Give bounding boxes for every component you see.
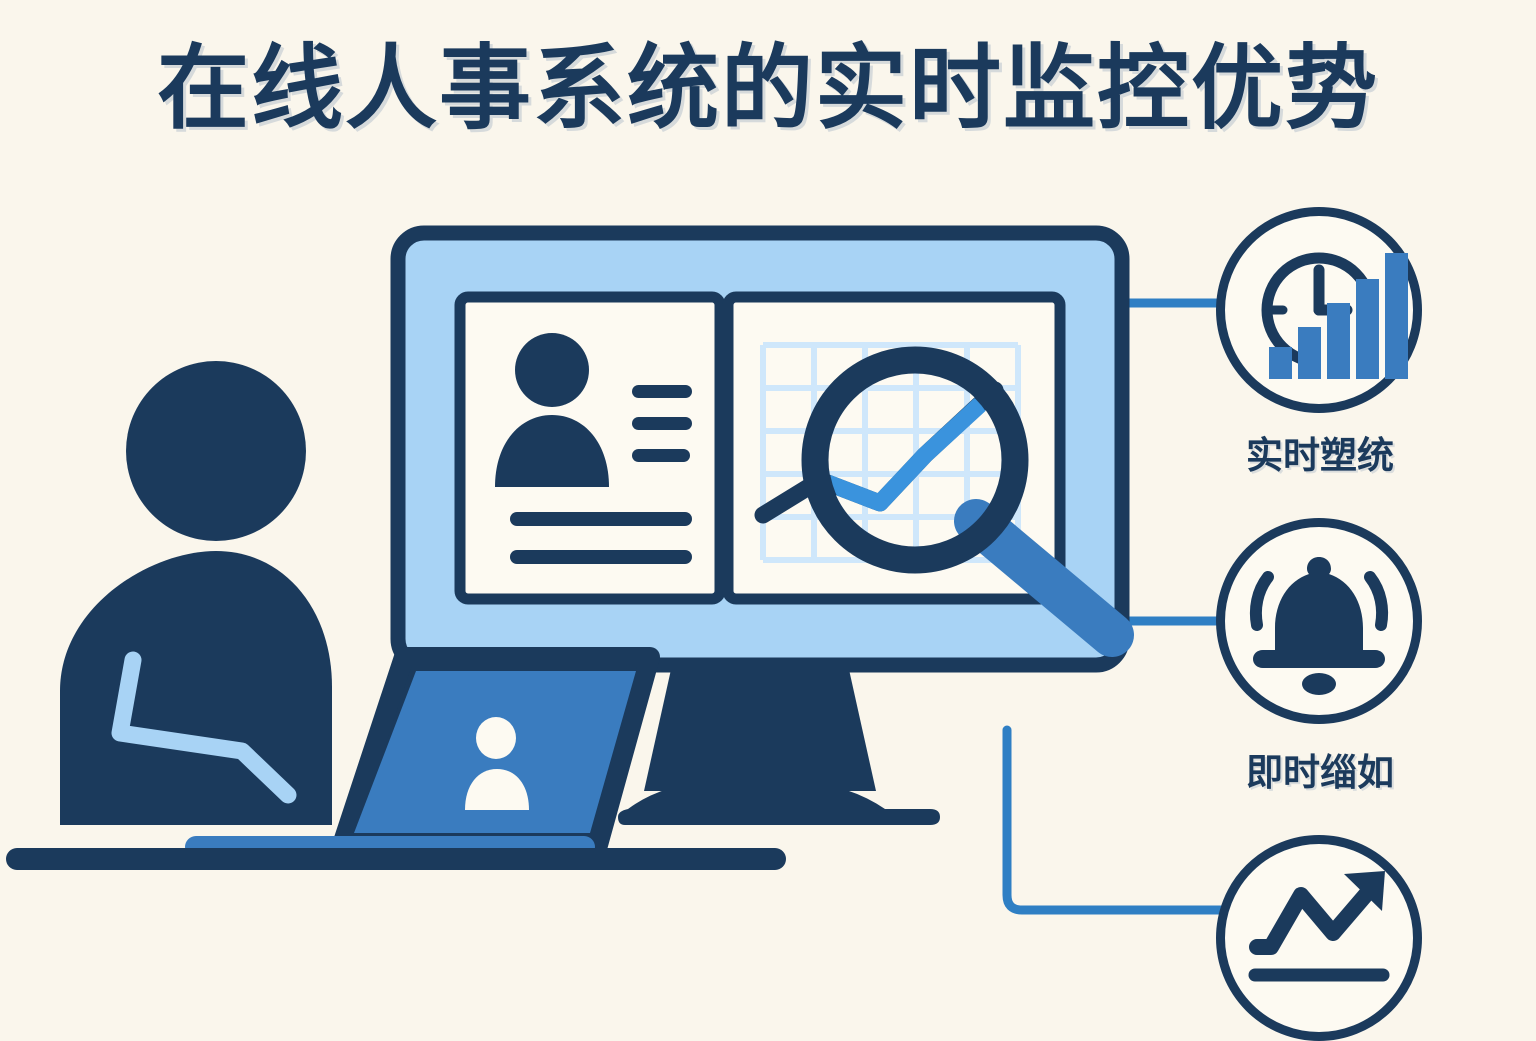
ringing-bell-icon [1225, 527, 1413, 715]
user-avatar-head-icon [515, 333, 589, 407]
feature-badge-instant-notification[interactable] [1216, 518, 1422, 724]
person-body [60, 551, 332, 825]
feature-badge-realtime-stats[interactable] [1216, 207, 1422, 413]
bar-1 [1269, 347, 1292, 379]
bar-2 [1298, 327, 1321, 379]
trend-arrow-line [1257, 884, 1375, 947]
bar-4 [1356, 279, 1379, 379]
person-head [126, 361, 306, 541]
feature-label-realtime-stats: 实时塑统 [1170, 425, 1470, 479]
upward-trend-arrow-icon [1225, 844, 1413, 1032]
profile-field-line [632, 385, 692, 398]
bar-5 [1385, 253, 1408, 379]
bar-3 [1327, 303, 1350, 379]
feature-badge-trend-growth[interactable] [1216, 835, 1422, 1041]
bell-sound-arc-left [1256, 577, 1268, 625]
desk-line [6, 848, 786, 870]
infographic-canvas: 在线人事系统的实时监控优势 [0, 0, 1536, 1024]
feature-label-instant-notification: 即时缁如 [1170, 742, 1470, 796]
bell-sound-arc-right [1370, 577, 1382, 625]
profile-detail-line [510, 550, 692, 564]
profile-field-line [632, 417, 692, 430]
desk-surface [0, 820, 980, 880]
clock-bar-chart-icon [1225, 216, 1413, 404]
profile-field-line [632, 449, 690, 462]
profile-detail-line [510, 512, 692, 526]
bell-clapper [1302, 673, 1336, 695]
